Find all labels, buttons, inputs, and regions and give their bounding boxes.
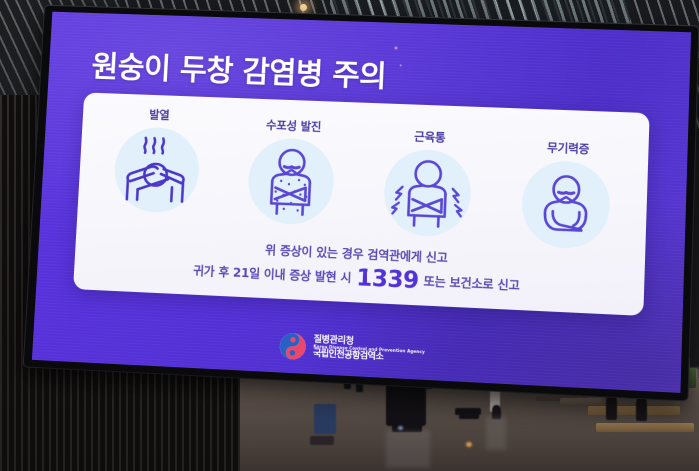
terminal-bench — [588, 406, 680, 415]
led-display: 원숭이 두창 감염병 주의 발열 — [24, 6, 699, 401]
symptom-item-rash: 수포성 발진 — [225, 116, 359, 227]
footer-line-2-after: 또는 보건소로 신고 — [423, 272, 520, 294]
symptom-label: 근육통 — [414, 128, 446, 145]
symptom-item-fatigue: 무기력증 — [499, 138, 635, 251]
info-stand — [314, 404, 336, 434]
luggage-trolley — [386, 382, 426, 426]
rash-spots-person-icon — [246, 137, 335, 226]
floor-light-reflection — [466, 442, 472, 447]
display-panel: 원숭이 두창 감염병 주의 발열 — [32, 12, 691, 393]
panel-speck — [394, 46, 397, 49]
floor-reflection — [486, 416, 506, 450]
symptom-label: 수포성 발진 — [266, 117, 322, 135]
page-title: 원숭이 두창 감염병 주의 — [91, 42, 388, 95]
luggage-cart — [310, 436, 334, 445]
footer-line-2-before: 귀가 후 21일 이내 증상 발현 시 — [193, 262, 352, 286]
hotline-number: 1339 — [356, 268, 419, 292]
luggage-cart — [459, 414, 479, 419]
fever-head-heat-icon — [112, 126, 200, 214]
terminal-bench — [596, 423, 694, 432]
fatigue-slumped-person-icon — [521, 160, 612, 250]
symptom-item-fever: 발열 — [91, 105, 223, 215]
symptom-label: 발열 — [149, 107, 170, 123]
symptom-item-muscle-pain: 근육통 — [361, 127, 496, 239]
terminal-bench — [560, 398, 602, 405]
taegeuk-icon — [279, 332, 307, 361]
muscle-pain-bolts-person-icon — [383, 148, 473, 238]
person — [636, 395, 647, 421]
symptom-label: 무기력증 — [547, 139, 590, 157]
floor-reflection — [386, 430, 430, 468]
kdca-logo-text: 질병관리청 Korea Disease Control and Preventi… — [313, 334, 426, 365]
panel-speck — [400, 64, 402, 66]
display-bezel: 원숭이 두창 감염병 주의 발열 — [24, 6, 699, 401]
symptom-card: 발열 — [73, 92, 650, 315]
ceiling-spotlight — [300, 4, 307, 11]
